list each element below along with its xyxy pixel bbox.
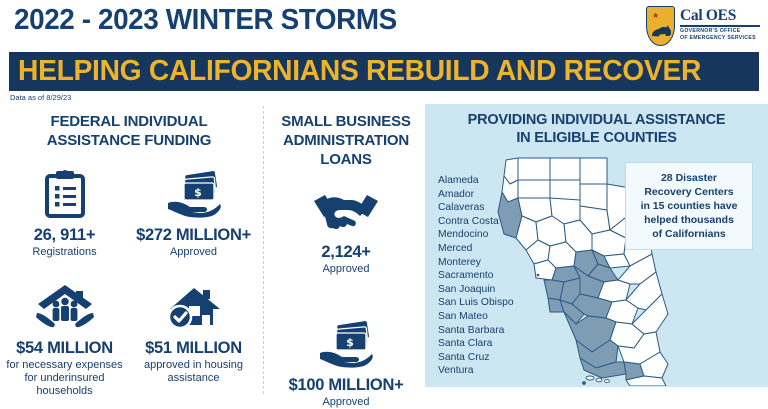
hand-cash-icon: $ xyxy=(272,314,420,376)
headline-text: HELPING CALIFORNIANS REBUILD AND RECOVER xyxy=(18,55,701,88)
stat-approved-272m: $ $272 MILLION+ Approved xyxy=(129,164,258,259)
header: 2022 - 2023 WINTER STORMS ★ Cal OES GOVE… xyxy=(0,0,768,52)
headline-banner: HELPING CALIFORNIANS REBUILD AND RECOVER xyxy=(9,52,759,91)
callout-line-3: in 15 counties have xyxy=(632,199,746,213)
stat-housing-assistance-value: $51 MILLION xyxy=(129,339,258,358)
family-home-hands-icon xyxy=(0,277,129,339)
data-asof-label: Data as of 8/29/23 xyxy=(10,93,71,102)
federal-assistance-section: FEDERAL INDIVIDUAL ASSISTANCE FUNDING 26… xyxy=(0,112,258,398)
svg-text:$: $ xyxy=(194,186,202,199)
clipboard-checklist-icon xyxy=(0,164,129,226)
column-divider xyxy=(263,106,264,394)
eligible-counties-panel: PROVIDING INDIVIDUAL ASSISTANCE IN ELIGI… xyxy=(425,104,768,387)
cal-oes-logo: ★ Cal OES GOVERNOR'S OFFICE OF EMERGENCY… xyxy=(646,6,762,48)
hand-cash-icon: $ xyxy=(129,164,258,226)
bear-shield-icon: ★ xyxy=(646,6,675,46)
stat-sba-approved-count: 2,124+ Approved xyxy=(272,181,420,276)
stat-necessary-expenses-value: $54 MILLION xyxy=(0,339,129,358)
stat-housing-assistance-label: approved in housing assistance xyxy=(129,359,258,385)
logo-wordmark: Cal OES GOVERNOR'S OFFICE OF EMERGENCY S… xyxy=(680,7,762,41)
sba-section-title: SMALL BUSINESS ADMINISTRATION LOANS xyxy=(272,112,420,169)
stat-registrations-value: 26, 911+ xyxy=(0,226,129,245)
stat-approved-272m-value: $272 MILLION+ xyxy=(129,226,258,245)
sba-title-line-2: ADMINISTRATION xyxy=(272,131,420,150)
stat-necessary-expenses: $54 MILLION for necessary expenses for u… xyxy=(0,277,129,398)
logo-divider xyxy=(680,25,760,27)
federal-section-title: FEDERAL INDIVIDUAL ASSISTANCE FUNDING xyxy=(0,112,258,150)
page-title: 2022 - 2023 WINTER STORMS xyxy=(14,4,397,37)
federal-stats-row-2: $54 MILLION for necessary expenses for u… xyxy=(0,277,258,398)
stat-sba-approved-count-label: Approved xyxy=(272,263,420,276)
stat-sba-approved-count-value: 2,124+ xyxy=(272,243,420,262)
star-icon: ★ xyxy=(652,13,658,19)
federal-stats-row-1: 26, 911+ Registrations $ $272 MILLION+ A… xyxy=(0,164,258,259)
stat-sba-approved-amount: $ $100 MILLION+ Approved xyxy=(272,314,420,409)
callout-line-4: helped thousands xyxy=(632,213,746,227)
callout-line-2: Recovery Centers xyxy=(632,185,746,199)
panel-title: PROVIDING INDIVIDUAL ASSISTANCE IN ELIGI… xyxy=(425,111,768,147)
logo-title: Cal OES xyxy=(680,7,762,24)
house-check-icon xyxy=(129,277,258,339)
panel-title-line-2: IN ELIGIBLE COUNTIES xyxy=(425,129,768,147)
stat-housing-assistance: $51 MILLION approved in housing assistan… xyxy=(129,277,258,398)
svg-text:$: $ xyxy=(346,336,354,349)
panel-title-line-1: PROVIDING INDIVIDUAL ASSISTANCE xyxy=(425,111,768,129)
sba-title-line-3: LOANS xyxy=(272,150,420,169)
stat-necessary-expenses-label: for necessary expenses for underinsured … xyxy=(0,359,129,398)
sba-title-line-1: SMALL BUSINESS xyxy=(272,112,420,131)
stat-approved-272m-label: Approved xyxy=(129,246,258,259)
callout-line-5: of Californians xyxy=(632,227,746,241)
bear-silhouette-icon xyxy=(651,23,672,39)
sba-loans-section: SMALL BUSINESS ADMINISTRATION LOANS 2,12… xyxy=(272,112,420,409)
federal-title-line-1: FEDERAL INDIVIDUAL xyxy=(0,112,258,131)
stat-sba-approved-amount-value: $100 MILLION+ xyxy=(272,376,420,395)
stat-registrations-label: Registrations xyxy=(0,246,129,259)
handshake-icon xyxy=(272,181,420,243)
federal-title-line-2: ASSISTANCE FUNDING xyxy=(0,131,258,150)
callout-line-1: 28 Disaster xyxy=(632,171,746,185)
logo-subtitle-2: OF EMERGENCY SERVICES xyxy=(680,35,762,42)
stat-registrations: 26, 911+ Registrations xyxy=(0,164,129,259)
disaster-recovery-callout: 28 Disaster Recovery Centers in 15 count… xyxy=(625,162,753,250)
